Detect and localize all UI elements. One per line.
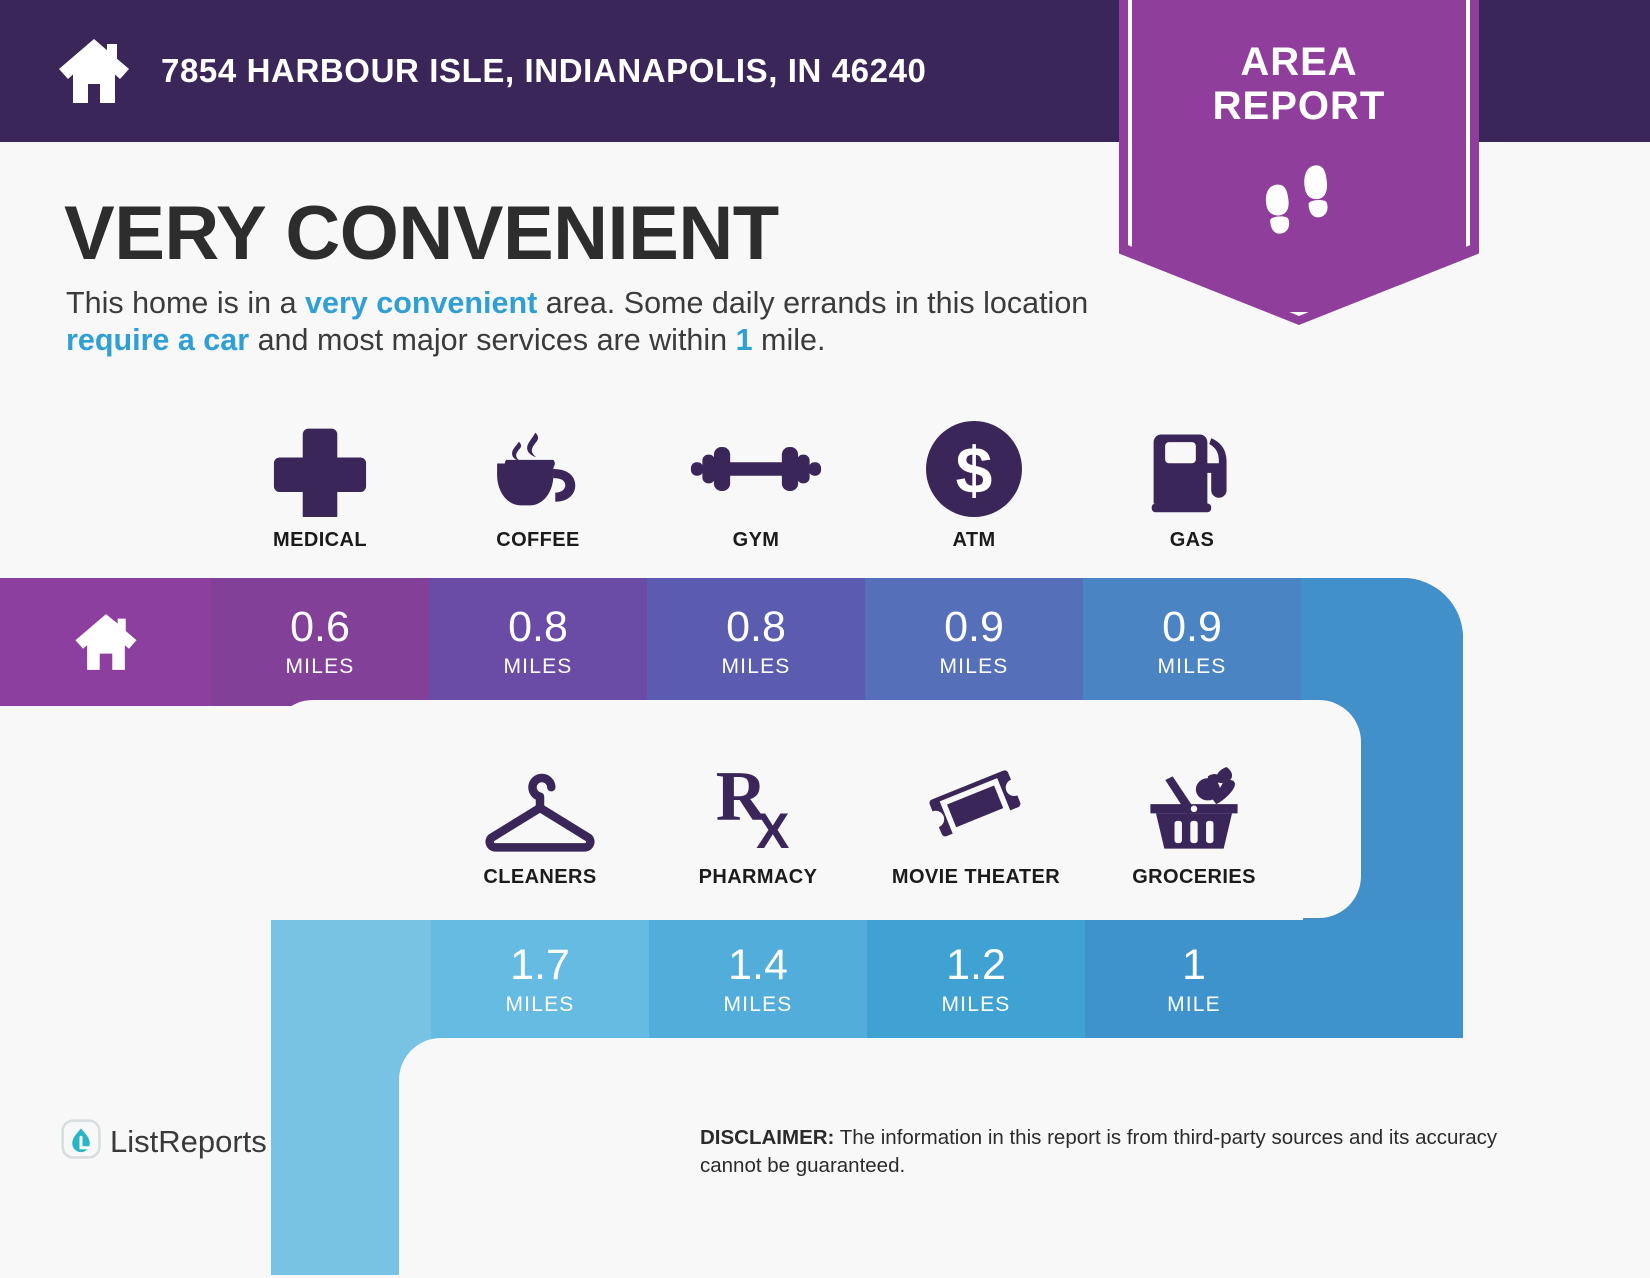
distance-unit: MILES [941,993,1010,1017]
bar-home-marker [0,578,211,706]
service-label: GROCERIES [1132,866,1256,889]
service-label: MEDICAL [273,529,367,552]
summary-part-1: This home is in a [66,286,305,320]
summary-highlight-3: 1 [736,323,753,357]
distance-cell-pharmacy: 1.4 MILES [649,920,867,1040]
distance-cell-movie-theater: 1.2 MILES [867,920,1085,1040]
distance-cell-cleaners: 1.7 MILES [431,920,649,1040]
movie-ticket-icon [924,752,1028,860]
service-label: CLEANERS [483,866,596,889]
distance-value: 0.6 [290,606,350,649]
listreports-logo-icon [60,1118,102,1165]
service-label: GYM [733,529,780,552]
distance-unit: MILES [285,655,354,679]
distance-unit: MILES [505,993,574,1017]
bar-tail-row-1 [1301,578,1463,706]
distance-cell-groceries: 1 MILE [1085,920,1303,1040]
gas-pump-icon [1144,415,1240,523]
service-label: MOVIE THEATER [892,866,1060,889]
distance-cell-medical: 0.6 MILES [211,578,429,706]
dumbbell-icon [689,415,823,523]
medical-cross-icon [272,415,368,523]
distance-unit: MILE [1167,993,1221,1017]
grocery-basket-icon [1143,752,1245,860]
service-medical: MEDICAL [211,415,429,552]
badge-line-2: REPORT [1119,84,1479,128]
distance-cell-gym: 0.8 MILES [647,578,865,706]
distance-cell-atm: 0.9 MILES [865,578,1083,706]
summary-paragraph: This home is in a very convenient area. … [66,285,1106,359]
distance-value: 0.9 [944,606,1004,649]
service-atm: $ ATM [865,415,1083,552]
distance-value: 1.4 [728,944,788,987]
distance-value: 0.8 [508,606,568,649]
distance-cell-gas: 0.9 MILES [1083,578,1301,706]
service-label: ATM [952,529,995,552]
service-movie-theater: MOVIE THEATER [867,752,1085,889]
badge-line-1: AREA [1119,40,1479,84]
service-cleaners: CLEANERS [431,752,649,889]
service-gym: GYM [647,415,865,552]
summary-highlight-1: very convenient [305,286,537,320]
service-label: GAS [1170,529,1215,552]
disclaimer-label: DISCLAIMER: [700,1126,834,1149]
distance-unit: MILES [1157,655,1226,679]
coffee-cup-icon [488,415,588,523]
distance-bar-row-1: 0.6 MILES 0.8 MILES 0.8 MILES 0.9 MILES … [0,578,1463,706]
summary-highlight-2: require a car [66,323,249,357]
page-title: VERY CONVENIENT [64,190,779,277]
distance-unit: MILES [503,655,572,679]
service-coffee: COFFEE [429,415,647,552]
property-address: 7854 HARBOUR ISLE, INDIANAPOLIS, IN 4624… [161,52,926,90]
dollar-circle-icon: $ [924,415,1024,523]
service-groceries: GROCERIES [1085,752,1303,889]
service-pharmacy: R X PHARMACY [649,752,867,889]
distance-unit: MILES [939,655,1008,679]
icon-row-2: CLEANERS R X PHARMACY MOVIE THEATER [431,752,1303,889]
listreports-logo-text: ListReports [110,1124,267,1160]
summary-part-2: area. Some daily errands in this locatio… [537,286,1088,320]
rx-icon: R X [710,752,806,860]
distance-unit: MILES [721,655,790,679]
footprints-icon [1251,155,1347,248]
listreports-logo[interactable]: ListReports [60,1118,267,1165]
distance-value: 1 [1182,944,1206,987]
distance-value: 1.7 [510,944,570,987]
distance-value: 1.2 [946,944,1006,987]
distance-bar-row-2: 1.7 MILES 1.4 MILES 1.2 MILES 1 MILE [271,920,1463,1040]
svg-text:X: X [756,803,789,854]
bar-lead-row-2 [271,920,431,1040]
service-gas: GAS [1083,415,1301,552]
summary-part-4: mile. [753,323,826,357]
distance-unit: MILES [723,993,792,1017]
distance-value: 0.8 [726,606,786,649]
distance-cell-coffee: 0.8 MILES [429,578,647,706]
badge-title: AREA REPORT [1119,40,1479,128]
service-label: COFFEE [496,529,580,552]
home-icon [55,32,133,110]
summary-part-3: and most major services are within [249,323,735,357]
distance-value: 0.9 [1162,606,1222,649]
clothes-hanger-icon [474,752,606,860]
service-label: PHARMACY [699,866,818,889]
icon-row-1: MEDICAL COFFEE [211,415,1301,552]
bar-tail-row-2 [1303,920,1463,1040]
area-report-badge: AREA REPORT [1119,0,1479,325]
svg-text:$: $ [956,433,993,507]
disclaimer: DISCLAIMER: The information in this repo… [700,1124,1520,1179]
